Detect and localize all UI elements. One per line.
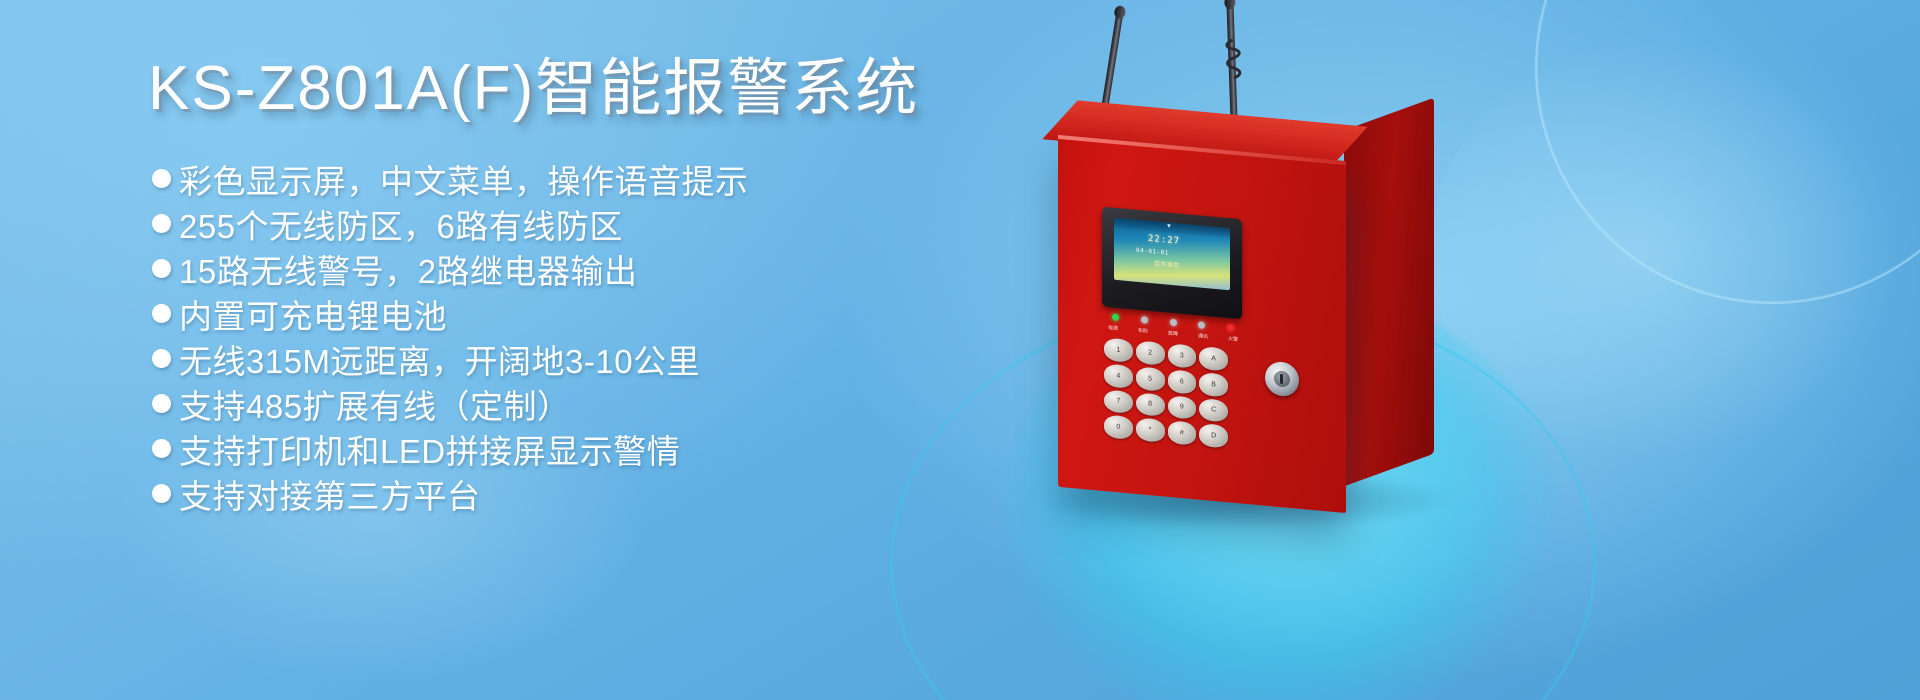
feature-text: 彩色显示屏，中文菜单，操作语音提示: [179, 155, 749, 203]
list-item: 内置可充电锂电池: [152, 291, 749, 336]
led-label: 故障: [1168, 329, 1178, 337]
alarm-panel-illustration: ▼ 22:27 04-01-01 昆防撤防 电源 布防 故障 通讯 火警 1 2…: [940, 0, 1920, 700]
key-star[interactable]: *: [1136, 417, 1165, 442]
bullet-dot-icon: [152, 349, 171, 368]
key-7[interactable]: 7: [1104, 389, 1133, 414]
key-0[interactable]: 0: [1104, 415, 1133, 440]
bullet-dot-icon: [152, 259, 171, 278]
key-d[interactable]: D: [1199, 423, 1228, 448]
status-led-icon: [1141, 316, 1148, 324]
list-item: 彩色显示屏，中文菜单，操作语音提示: [152, 156, 749, 201]
key-2[interactable]: 2: [1136, 340, 1165, 365]
key-hash[interactable]: #: [1168, 420, 1197, 445]
lock-keyhole: [1280, 374, 1283, 384]
signal-icon: ▼: [1166, 223, 1172, 230]
led-label: 布防: [1138, 326, 1148, 334]
list-item: 支持对接第三方平台: [152, 471, 749, 516]
key-9[interactable]: 9: [1168, 395, 1197, 420]
enclosure-side-panel: [1344, 98, 1434, 487]
comm-led-icon: [1198, 321, 1205, 329]
lcd-screen[interactable]: ▼ 22:27 04-01-01 昆防撤防: [1114, 218, 1230, 291]
fault-led-icon: [1170, 319, 1177, 327]
list-item: 255个无线防区，6路有线防区: [152, 201, 749, 246]
page-title: KS-Z801A(F)智能报警系统: [148, 56, 919, 121]
key-1[interactable]: 1: [1104, 337, 1133, 362]
alarm-led-icon: [1227, 324, 1234, 332]
key-8[interactable]: 8: [1136, 392, 1165, 417]
key-b[interactable]: B: [1199, 372, 1228, 397]
key-a[interactable]: A: [1199, 346, 1228, 371]
key-3[interactable]: 3: [1168, 343, 1197, 368]
led-label: 通讯: [1198, 332, 1208, 340]
lcd-bezel: ▼ 22:27 04-01-01 昆防撤防: [1102, 207, 1242, 320]
feature-text: 内置可充电锂电池: [179, 290, 447, 338]
power-led-icon: [1112, 313, 1119, 321]
led-label: 电源: [1108, 324, 1118, 332]
promo-banner: KS-Z801A(F)智能报警系统 彩色显示屏，中文菜单，操作语音提示 255个…: [0, 0, 1920, 700]
bullet-dot-icon: [152, 169, 171, 188]
list-item: 支持485扩展有线（定制）: [152, 381, 749, 426]
bullet-dot-icon: [152, 214, 171, 233]
feature-text: 支持对接第三方平台: [179, 470, 481, 518]
list-item: 支持打印机和LED拼接屏显示警情: [152, 426, 749, 471]
copy-block: KS-Z801A(F)智能报警系统 彩色显示屏，中文菜单，操作语音提示 255个…: [0, 0, 960, 700]
lcd-clock: 22:27: [1148, 234, 1180, 247]
list-item: 无线315M远距离，开阔地3-10公里: [152, 336, 749, 381]
bullet-dot-icon: [152, 439, 171, 458]
feature-text: 支持打印机和LED拼接屏显示警情: [179, 425, 680, 473]
key-c[interactable]: C: [1199, 398, 1228, 423]
feature-text: 15路无线警号，2路继电器输出: [179, 245, 638, 293]
bullet-dot-icon: [152, 304, 171, 323]
lcd-status-text: 昆防撤防: [1154, 258, 1180, 269]
antenna-coil-icon: [1223, 38, 1245, 83]
bullet-dot-icon: [152, 484, 171, 503]
lcd-date: 04-01-01: [1136, 247, 1169, 257]
led-label: 火警: [1228, 334, 1238, 342]
key-5[interactable]: 5: [1136, 366, 1165, 391]
feature-text: 支持485扩展有线（定制）: [179, 380, 571, 428]
key-6[interactable]: 6: [1168, 369, 1197, 394]
feature-text: 255个无线防区，6路有线防区: [179, 200, 623, 248]
keypad[interactable]: 1 2 3 A 4 5 6 B 7 8 9 C 0 * # D: [1104, 337, 1228, 448]
feature-list: 彩色显示屏，中文菜单，操作语音提示 255个无线防区，6路有线防区 15路无线警…: [152, 156, 749, 516]
key-4[interactable]: 4: [1104, 363, 1133, 388]
feature-text: 无线315M远距离，开阔地3-10公里: [179, 335, 700, 383]
list-item: 15路无线警号，2路继电器输出: [152, 246, 749, 291]
bullet-dot-icon: [152, 394, 171, 413]
